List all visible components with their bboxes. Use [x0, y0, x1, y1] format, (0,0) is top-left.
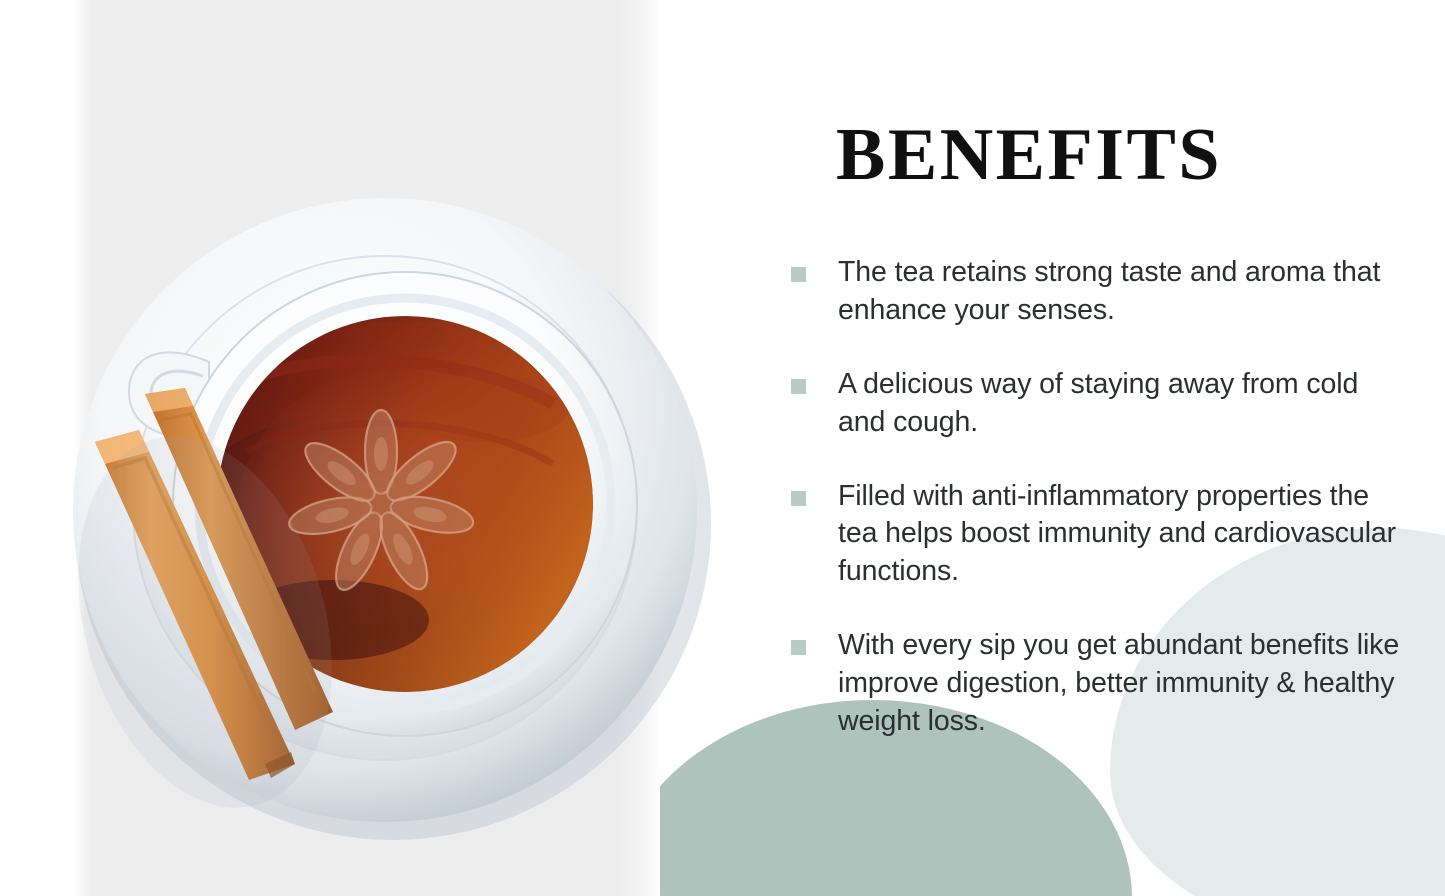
- bullet-text: With every sip you get abundant benefits…: [838, 627, 1411, 741]
- list-item: Filled with anti-inflammatory properties…: [791, 478, 1411, 592]
- bullet-square-icon: [791, 640, 806, 655]
- bullet-text: Filled with anti-inflammatory properties…: [838, 478, 1411, 592]
- tea-cup-illustration: [33, 152, 745, 864]
- bullet-square-icon: [791, 379, 806, 394]
- bullet-square-icon: [791, 491, 806, 506]
- tea-light-pool: [401, 374, 569, 442]
- benefits-list: The tea retains strong taste and aroma t…: [791, 254, 1411, 741]
- content-column: BENEFITS The tea retains strong taste an…: [791, 118, 1411, 741]
- page-title: BENEFITS: [836, 118, 1411, 192]
- bullet-text: A delicious way of staying away from col…: [838, 366, 1411, 442]
- list-item: The tea retains strong taste and aroma t…: [791, 254, 1411, 330]
- benefits-slide: BENEFITS The tea retains strong taste an…: [0, 0, 1445, 896]
- bullet-square-icon: [791, 267, 806, 282]
- bullet-text: The tea retains strong taste and aroma t…: [838, 254, 1411, 330]
- tea-cup-photo: [33, 152, 745, 864]
- list-item: With every sip you get abundant benefits…: [791, 627, 1411, 741]
- list-item: A delicious way of staying away from col…: [791, 366, 1411, 442]
